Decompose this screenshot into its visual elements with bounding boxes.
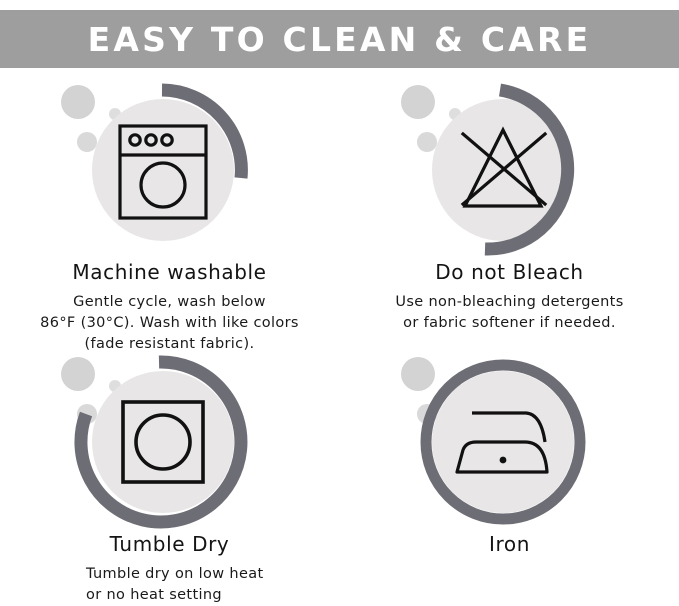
care-card-machine-washable: Machine washable Gentle cycle, wash belo… xyxy=(0,78,339,355)
bubble-large-icon xyxy=(401,85,435,119)
page-header-banner: EASY TO CLEAN & CARE xyxy=(0,10,679,68)
machine-washable-art xyxy=(0,78,339,260)
care-card-do-not-bleach: Do not Bleach Use non-bleaching detergen… xyxy=(340,78,679,334)
bubble-medium-icon xyxy=(417,132,437,152)
care-instruction-grid: Machine washable Gentle cycle, wash belo… xyxy=(0,78,679,594)
icon-disc-background xyxy=(92,99,234,241)
icon-disc-background xyxy=(92,371,234,513)
washing-machine-icon xyxy=(55,78,285,260)
card-headline: Do not Bleach xyxy=(340,260,679,285)
iron-art xyxy=(340,350,679,532)
do-not-bleach-icon xyxy=(395,78,625,260)
card-body-text: Tumble dry on low heat or no heat settin… xyxy=(0,564,339,606)
iron-icon xyxy=(395,350,625,532)
card-headline: Machine washable xyxy=(0,260,339,285)
care-card-tumble-dry: Tumble Dry Tumble dry on low heat or no … xyxy=(0,350,339,606)
care-card-iron: Iron xyxy=(340,350,679,564)
bubble-medium-icon xyxy=(77,132,97,152)
card-headline: Tumble Dry xyxy=(0,532,339,557)
bubble-large-icon xyxy=(61,357,95,391)
tumble-dry-icon xyxy=(55,350,285,532)
do-not-bleach-art xyxy=(340,78,679,260)
bubble-large-icon xyxy=(61,85,95,119)
page-title: EASY TO CLEAN & CARE xyxy=(88,23,592,56)
tumble-dry-art xyxy=(0,350,339,532)
card-body-text: Use non-bleaching detergents or fabric s… xyxy=(340,292,679,334)
bubble-large-icon xyxy=(401,357,435,391)
card-headline: Iron xyxy=(340,532,679,557)
card-body-text: Gentle cycle, wash below 86°F (30°C). Wa… xyxy=(0,292,339,355)
